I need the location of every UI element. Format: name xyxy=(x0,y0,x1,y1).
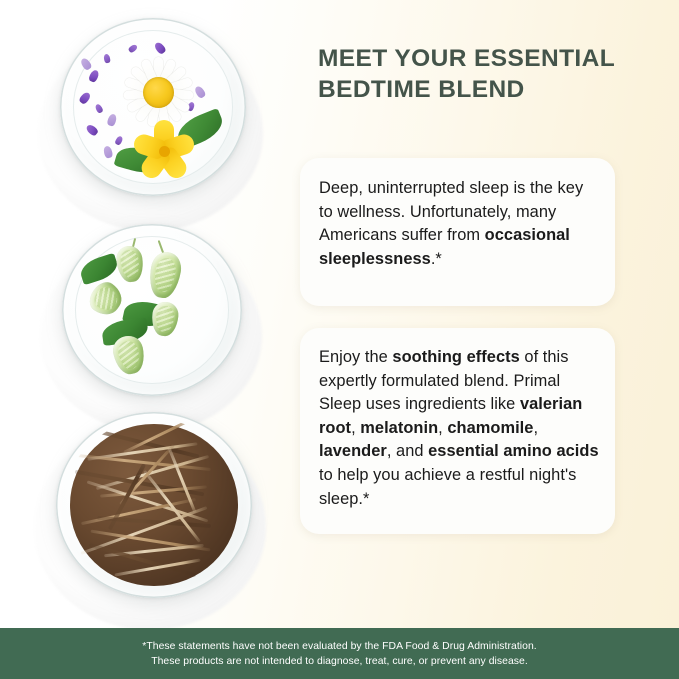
valerian-root-bowl xyxy=(0,398,300,628)
hops-cone xyxy=(146,250,184,301)
hops-cone xyxy=(110,333,147,376)
valerian-root-mass xyxy=(70,424,237,586)
yellow-flower-center xyxy=(159,146,170,157)
chamomile-daisy xyxy=(122,56,194,128)
glass-bowl xyxy=(62,224,242,396)
bowl-contents xyxy=(62,224,242,396)
body-text: .* xyxy=(431,250,442,268)
lavender-petal xyxy=(94,103,104,114)
headline-line-2: BEDTIME BLEND xyxy=(318,74,658,105)
bowl-contents xyxy=(63,419,245,591)
bowl-contents xyxy=(60,18,246,196)
body-text: , and xyxy=(387,442,428,460)
emphasis-text: chamomile xyxy=(447,419,533,437)
hops-cone xyxy=(85,277,128,320)
chamomile-lavender-bowl xyxy=(0,6,300,221)
info-card-sleep-importance: Deep, uninterrupted sleep is the key to … xyxy=(300,158,615,306)
glass-bowl xyxy=(60,18,246,196)
disclaimer-footer: *These statements have not been evaluate… xyxy=(0,628,679,679)
infographic-page: MEET YOUR ESSENTIAL BEDTIME BLEND Deep, … xyxy=(0,0,679,679)
headline-line-1: MEET YOUR ESSENTIAL xyxy=(318,43,658,74)
lavender-petal xyxy=(103,145,114,159)
emphasis-text: lavender xyxy=(319,442,387,460)
hops-cone xyxy=(150,301,179,338)
body-text: to help you achieve a restful night's sl… xyxy=(319,466,576,508)
info-card-ingredients: Enjoy the soothing effects of this exper… xyxy=(300,328,615,534)
emphasis-text: soothing effects xyxy=(392,348,519,366)
lavender-petal xyxy=(78,91,92,105)
glass-bowl xyxy=(56,412,252,598)
disclaimer-line-1: *These statements have not been evaluate… xyxy=(142,639,536,654)
body-text: , xyxy=(351,419,360,437)
lavender-petal xyxy=(106,113,117,127)
card-body-text: Enjoy the soothing effects of this exper… xyxy=(319,346,601,511)
emphasis-text: essential amino acids xyxy=(428,442,599,460)
lavender-petal xyxy=(103,53,111,63)
lavender-petal xyxy=(128,43,139,53)
page-title: MEET YOUR ESSENTIAL BEDTIME BLEND xyxy=(318,43,658,105)
ingredient-bowls-column xyxy=(0,0,300,630)
daisy-center xyxy=(143,77,174,108)
lavender-petal xyxy=(85,123,99,137)
lavender-petal xyxy=(88,69,100,83)
disclaimer-line-2: These products are not intended to diagn… xyxy=(151,654,528,669)
lavender-petal xyxy=(153,41,167,55)
body-text: , xyxy=(533,419,538,437)
lavender-petal xyxy=(79,57,92,71)
yellow-flower xyxy=(132,122,196,180)
lavender-petal xyxy=(193,85,206,99)
hops-leaf xyxy=(78,253,121,286)
emphasis-text: melatonin xyxy=(360,419,438,437)
lavender-petal xyxy=(114,135,124,146)
hops-cone xyxy=(115,244,146,283)
body-text: , xyxy=(438,419,447,437)
hops-bowl xyxy=(0,212,300,427)
body-text: Enjoy the xyxy=(319,348,392,366)
card-body-text: Deep, uninterrupted sleep is the key to … xyxy=(319,177,601,271)
